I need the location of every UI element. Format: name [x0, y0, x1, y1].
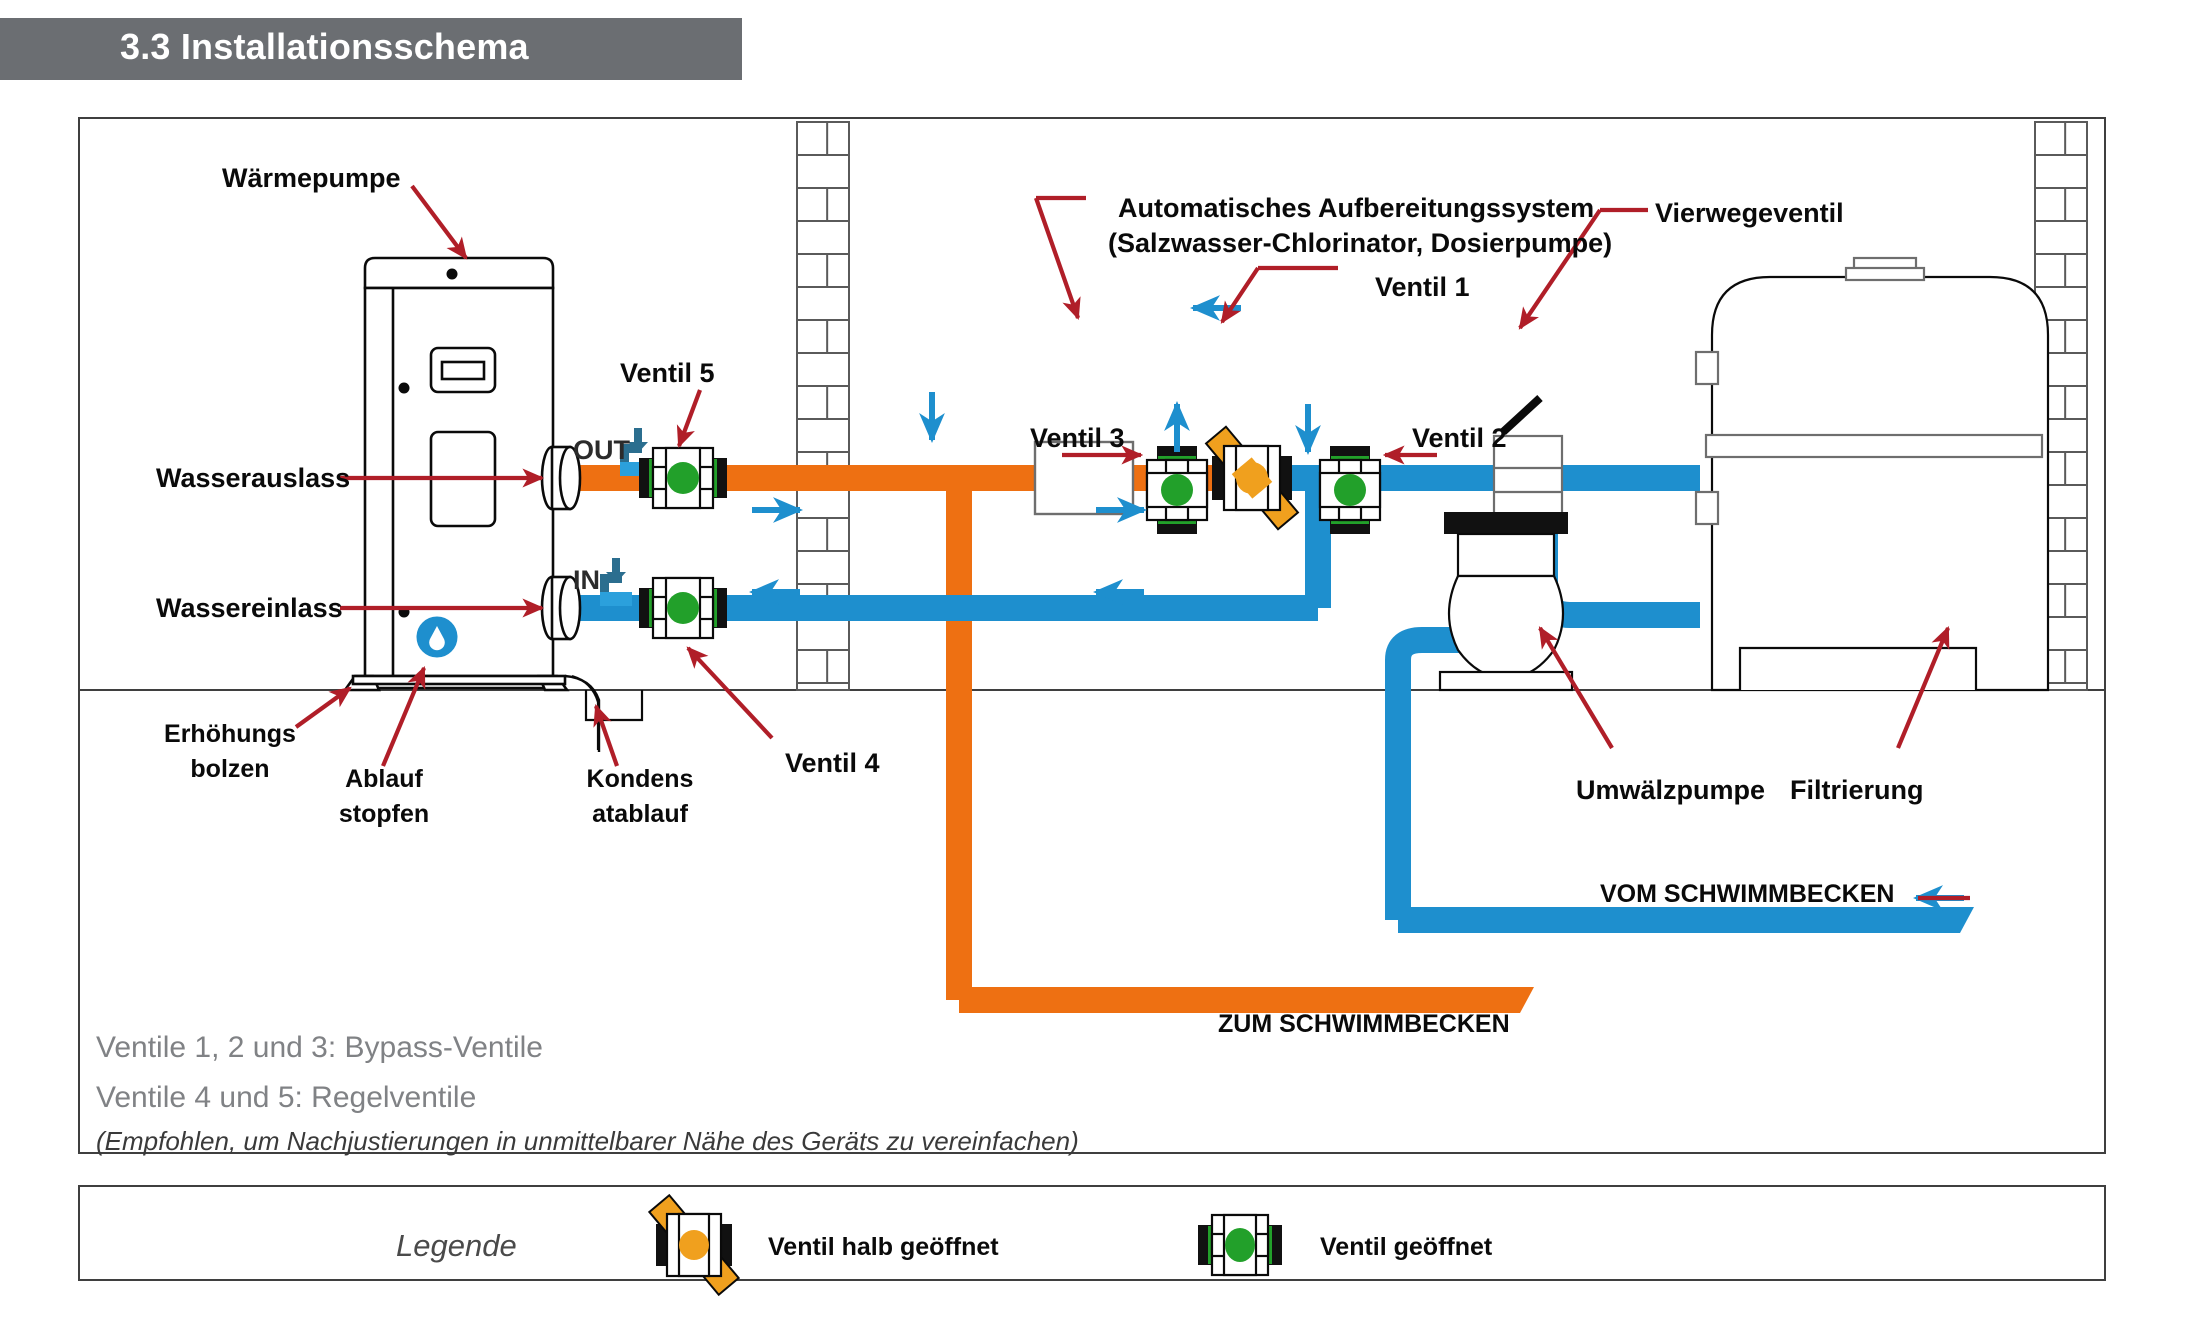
diagram-frame — [78, 117, 2106, 1154]
note-recommendation: (Empfohlen, um Nachjustierungen in unmit… — [96, 1126, 1079, 1157]
label-condensate-line2: atablauf — [556, 800, 724, 828]
note-control-valves: Ventile 4 und 5: Regelventile — [96, 1081, 476, 1115]
label-valve-2: Ventil 2 — [1412, 423, 1507, 453]
label-circulation-pump: Umwälzpumpe — [1576, 775, 1765, 805]
label-from-pool: VOM SCHWIMMBECKEN — [1600, 880, 1894, 908]
label-water-inlet: Wassereinlass — [156, 593, 343, 623]
page-title: 3.3 Installationsschema — [120, 26, 529, 68]
label-riser-bolt-line1: Erhöhungs — [156, 720, 304, 748]
legend-title: Legende — [396, 1228, 517, 1264]
label-treatment-line2: (Salzwasser-Chlorinator, Dosierpumpe) — [1108, 228, 1612, 258]
label-filtration: Filtrierung — [1790, 775, 1924, 805]
label-to-pool: ZUM SCHWIMMBECKEN — [1218, 1010, 1510, 1038]
label-valve-3: Ventil 3 — [1030, 423, 1125, 453]
legend-item-half-open-label: Ventil halb geöffnet — [768, 1233, 999, 1262]
label-riser-bolt-line2: bolzen — [156, 755, 304, 783]
label-valve-4: Ventil 4 — [785, 748, 880, 778]
label-valve-5: Ventil 5 — [620, 358, 715, 388]
label-treatment-line1: Automatisches Aufbereitungssystem — [1118, 193, 1594, 223]
label-valve-1: Ventil 1 — [1375, 272, 1470, 302]
installation-schematic-page: 3.3 Installationsschema — [0, 0, 2185, 1341]
label-drain-plug-line2: stopfen — [314, 800, 454, 828]
label-four-way-valve: Vierwegeventil — [1655, 198, 1844, 228]
label-port-out: OUT — [573, 435, 630, 466]
label-port-in: IN — [573, 565, 600, 596]
legend-item-open-label: Ventil geöffnet — [1320, 1233, 1492, 1262]
label-condensate-line1: Kondens — [556, 765, 724, 793]
legend-frame — [78, 1185, 2106, 1281]
note-bypass-valves: Ventile 1, 2 und 3: Bypass-Ventile — [96, 1031, 543, 1065]
label-heat-pump: Wärmepumpe — [222, 163, 401, 193]
label-water-outlet: Wasserauslass — [156, 463, 350, 493]
label-drain-plug-line1: Ablauf — [314, 765, 454, 793]
